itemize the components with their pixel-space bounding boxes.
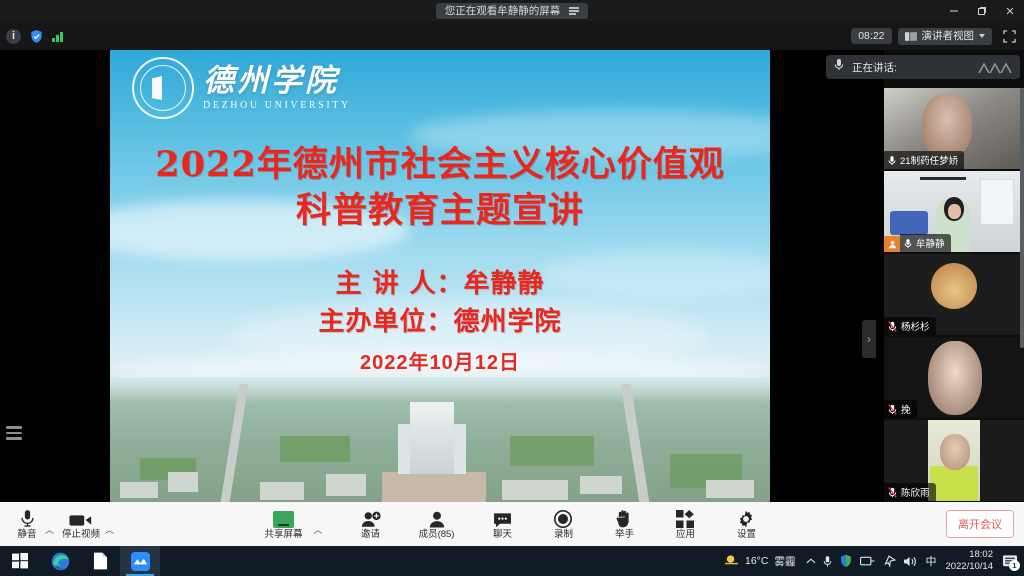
raise-hand-label: 举手 [615,530,634,540]
participant-name: 杨杉杉 [901,319,930,333]
signal-bars-icon[interactable] [52,31,63,42]
slide-subtitle-block: 主 讲 人：牟静静 主办单位：德州学院 [110,266,770,341]
notification-icon[interactable]: 1 [1002,554,1018,569]
person-body [930,466,978,501]
shared-screen-stage: 德州学院 DEZHOU UNIVERSITY 2022年德州市社会主义核心价值观… [0,50,884,502]
active-speaker-banner: 正在讲话: [826,55,1020,79]
gear-icon [737,509,755,528]
clock[interactable]: 18:02 2022/10/14 [945,549,993,572]
invite-label: 邀请 [361,530,380,540]
building [502,480,568,500]
toolbar-center-group: 共享屏幕 ︿ 邀请 成员(85) 聊天 [0,502,1024,546]
maximize-button[interactable] [968,0,996,22]
meeting-info-bar: i 08:22 演讲者视图 [0,22,1024,50]
share-screen-label: 共享屏幕 [265,530,303,540]
sun-icon [724,553,739,569]
participant-name: 挽 [901,402,911,416]
host-badge [884,236,900,252]
participants-label: 成员(85) [419,530,455,540]
building [168,472,198,492]
list-item[interactable]: 挽 [884,337,1024,418]
record-button[interactable]: 录制 [546,507,580,542]
raise-hand-icon [616,509,633,528]
university-name-cn: 德州学院 [203,65,351,98]
view-mode-label: 演讲者视图 [922,31,975,42]
person-face [940,434,970,470]
info-icon[interactable]: i [6,29,21,44]
screenshare-notice-label: 您正在观看牟静静的屏幕 [445,6,561,17]
university-logo: 德州学院 DEZHOU UNIVERSITY [132,57,351,119]
list-item[interactable]: 杨杉杉 [884,254,1024,335]
slide-date-line: 2022年10月12日 [110,346,770,375]
chat-bubble-icon [493,509,512,528]
presentation-slide: 德州学院 DEZHOU UNIVERSITY 2022年德州市社会主义核心价值观… [110,50,770,502]
building [120,482,158,498]
shield-icon[interactable] [28,28,45,45]
edge-icon[interactable] [40,546,80,576]
microphone-icon[interactable] [823,555,832,568]
share-screen-button[interactable]: 共享屏幕 [261,507,307,542]
microphone-icon [888,155,896,166]
avatar [931,263,977,309]
meeting-timer: 08:22 [851,28,891,45]
meeting-app-icon[interactable] [120,546,160,576]
slide-organizer-line: 主办单位：德州学院 [110,304,770,342]
system-tray: 16°C 雾霾 中 18:02 20 [724,546,1024,576]
building [580,476,622,494]
university-seal-icon [132,57,194,119]
share-screen-icon [273,509,294,528]
weather-temp: 16°C [745,555,768,567]
clock-time: 18:02 [969,549,993,561]
fullscreen-icon[interactable] [998,25,1020,47]
participant-name: 21制药任梦娇 [900,153,958,167]
settings-label: 设置 [737,530,756,540]
leave-meeting-button[interactable]: 离开会议 [946,510,1014,538]
campus-aerial-photo [110,377,770,502]
microphone-icon [904,238,912,249]
window-controls [940,0,1024,22]
participants-button[interactable]: 成员(85) [415,507,459,542]
haze-layer [110,377,770,403]
security-shield-icon[interactable] [839,554,853,568]
greenery [280,436,350,462]
participant-name-tag: 21制药任梦娇 [884,151,964,169]
notification-count: 1 [1009,560,1020,571]
slide-title: 2022年德州市社会主义核心价值观 科普教育主题宣讲 [110,142,770,234]
chevron-right-icon[interactable]: › [862,320,876,358]
volume-icon[interactable] [903,555,918,568]
chat-button[interactable]: 聊天 [485,507,519,542]
greenery [510,436,594,466]
sound-wave-icon [978,61,1012,74]
microphone-muted-icon [888,321,897,332]
meeting-view-controls: 08:22 演讲者视图 [851,22,1020,50]
microphone-muted-icon [888,487,897,498]
share-options-chevron-up-icon[interactable]: ︿ [314,523,323,536]
minimize-button[interactable] [940,0,968,22]
hamburger-icon[interactable] [569,7,579,15]
list-item[interactable]: 21制药任梦娇 [884,88,1024,169]
building [706,480,754,498]
apps-label: 应用 [676,530,695,540]
windows-taskbar: 16°C 雾霾 中 18:02 20 [0,546,1024,576]
taskbar-apps [0,546,160,576]
building [260,482,304,500]
active-speaker-label: 正在讲话: [852,60,897,75]
toolbar-right-group: 离开会议 [946,502,1014,546]
input-icon[interactable] [860,555,875,567]
chevron-down-icon [979,34,985,38]
title-bar: 您正在观看牟静静的屏幕 [0,0,1024,22]
settings-button[interactable]: 设置 [729,507,763,542]
list-icon[interactable] [6,423,26,443]
close-button[interactable] [996,0,1024,22]
meeting-status-icons: i [6,22,63,50]
participant-video-panel: 正在讲话: 21制药任梦娇 [884,50,1024,502]
building [326,474,366,496]
apps-grid-icon [676,509,694,528]
participant-name-tag: 陈欣雨 [884,483,936,501]
raise-hand-button[interactable]: 举手 [607,507,641,542]
list-item[interactable]: 陈欣雨 [884,420,1024,501]
slide-title-line2: 科普教育主题宣讲 [110,188,770,234]
main-tower-building [410,402,454,474]
slide-speaker-line: 主 讲 人：牟静静 [110,266,770,304]
clock-date: 2022/10/14 [945,561,993,573]
document-icon[interactable] [80,546,120,576]
book-icon [152,76,174,100]
weather-desc: 雾霾 [774,554,795,569]
screenshare-notice-pill[interactable]: 您正在观看牟静静的屏幕 [436,3,589,20]
chat-label: 聊天 [493,530,512,540]
participant-name: 陈欣雨 [901,485,930,499]
microphone-muted-icon [888,404,897,415]
university-name-en: DEZHOU UNIVERSITY [203,100,351,111]
participant-name-tag: 挽 [884,400,917,418]
slide-title-line1: 2022年德州市社会主义核心价值观 [110,142,770,188]
record-label: 录制 [554,530,573,540]
participants-icon [428,509,446,528]
participant-name-tag: 牟静静 [900,234,951,252]
participant-name: 牟静静 [916,236,945,250]
view-mode-dropdown[interactable]: 演讲者视图 [898,28,993,45]
panel-scrollbar[interactable] [1020,88,1024,348]
weather-widget[interactable]: 16°C 雾霾 [724,553,795,569]
campus-plaza [382,472,486,502]
list-item[interactable]: 牟静静 [884,171,1024,252]
start-button[interactable] [0,546,40,576]
ime-indicator[interactable]: 中 [925,553,936,569]
invite-person-icon [361,509,381,528]
record-icon [554,509,572,528]
speaker-view-icon [905,31,917,42]
apps-button[interactable]: 应用 [668,507,702,542]
chevron-up-icon[interactable] [806,557,816,565]
meeting-window: 您正在观看牟静静的屏幕 i 08:22 [0,0,1024,576]
network-icon[interactable] [882,555,896,568]
meeting-toolbar: 静音 ︿ 停止视频 ︿ 共享屏幕 ︿ 邀请 [0,502,1024,546]
microphone-icon [834,58,844,76]
participant-tile-list[interactable]: 21制药任梦娇 [884,88,1024,502]
participant-name-tag: 杨杉杉 [884,317,936,335]
invite-button[interactable]: 邀请 [354,507,388,542]
